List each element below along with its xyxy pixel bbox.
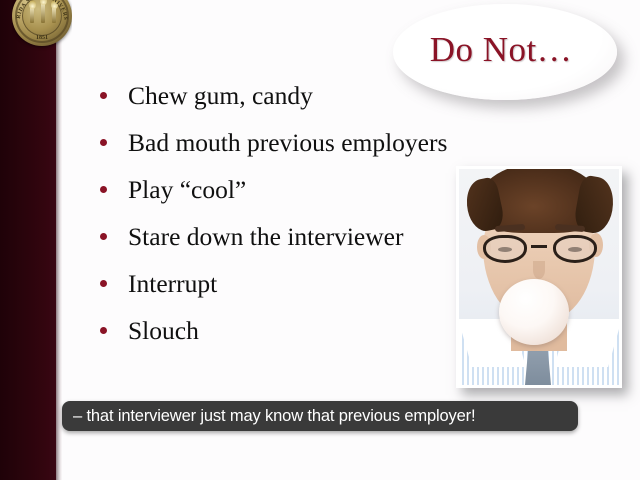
list-item: Slouch xyxy=(100,307,460,354)
bullet-dot-icon xyxy=(100,280,107,287)
list-item-label: Stare down the interviewer xyxy=(128,224,403,250)
torch-center xyxy=(41,3,45,23)
list-item: Play “cool” xyxy=(100,166,460,213)
presentation-slide: FLORIDA STATE UNIVERSITY 1851 Do Not… Ch… xyxy=(0,0,640,480)
list-item-label: Interrupt xyxy=(128,271,217,297)
bullet-dot-icon xyxy=(100,327,107,334)
seal-disc: FLORIDA STATE UNIVERSITY 1851 xyxy=(12,0,72,46)
list-item: Stare down the interviewer xyxy=(100,213,460,260)
bubble-gum-man-photo xyxy=(459,169,619,385)
flame-right xyxy=(51,0,58,9)
bullet-dot-icon xyxy=(100,92,107,99)
eyeglasses-lens-right xyxy=(553,235,597,263)
bullet-dot-icon xyxy=(100,186,107,193)
caption-bar: – that interviewer just may know that pr… xyxy=(62,401,578,431)
caption-text: – that interviewer just may know that pr… xyxy=(73,407,475,426)
list-item: Interrupt xyxy=(100,260,460,307)
nose xyxy=(533,261,545,279)
list-item-label: Bad mouth previous employers xyxy=(128,130,447,156)
list-item: Bad mouth previous employers xyxy=(100,119,460,166)
eyeglasses-lens-left xyxy=(483,235,527,263)
bullet-dot-icon xyxy=(100,233,107,240)
gum-bubble xyxy=(499,279,569,345)
torch-left xyxy=(30,7,34,23)
list-item: Chew gum, candy xyxy=(100,72,460,119)
torch-right xyxy=(52,7,56,23)
eyeglasses-bridge xyxy=(531,245,547,248)
university-seal-logo: FLORIDA STATE UNIVERSITY 1851 xyxy=(12,0,72,72)
left-decorative-band xyxy=(0,0,56,480)
bullet-dot-icon xyxy=(100,139,107,146)
photo-frame xyxy=(456,166,622,388)
list-item-label: Play “cool” xyxy=(128,177,246,203)
list-item-label: Slouch xyxy=(128,318,199,344)
flame-center xyxy=(40,0,47,5)
flame-left xyxy=(29,0,36,9)
list-item-label: Chew gum, candy xyxy=(128,83,313,109)
page-title: Do Not… xyxy=(430,30,573,70)
bullet-list: Chew gum, candy Bad mouth previous emplo… xyxy=(100,72,460,354)
